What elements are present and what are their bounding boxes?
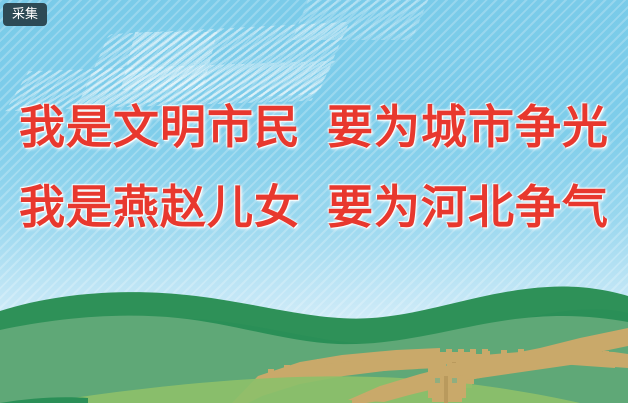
watchtower-window-right-2	[452, 378, 457, 383]
capture-badge[interactable]: 采集	[3, 3, 47, 26]
banner-image: 我是文明市民要为城市争光 我是燕赵儿女要为河北争气 采集	[0, 0, 628, 403]
watchtower-column-right	[444, 376, 448, 403]
slogan-line-1-part-2: 要为城市争光	[327, 100, 609, 154]
slogan-line-1: 我是文明市民要为城市争光	[0, 104, 628, 150]
slogan-line-1-part-1: 我是文明市民	[19, 100, 301, 154]
watchtower-window-right-1	[435, 378, 440, 383]
slogan-line-2: 我是燕赵儿女要为河北争气	[0, 184, 628, 230]
slogan-line-2-part-1: 我是燕赵儿女	[19, 180, 301, 234]
slogan-line-2-part-2: 要为河北争气	[327, 180, 609, 234]
